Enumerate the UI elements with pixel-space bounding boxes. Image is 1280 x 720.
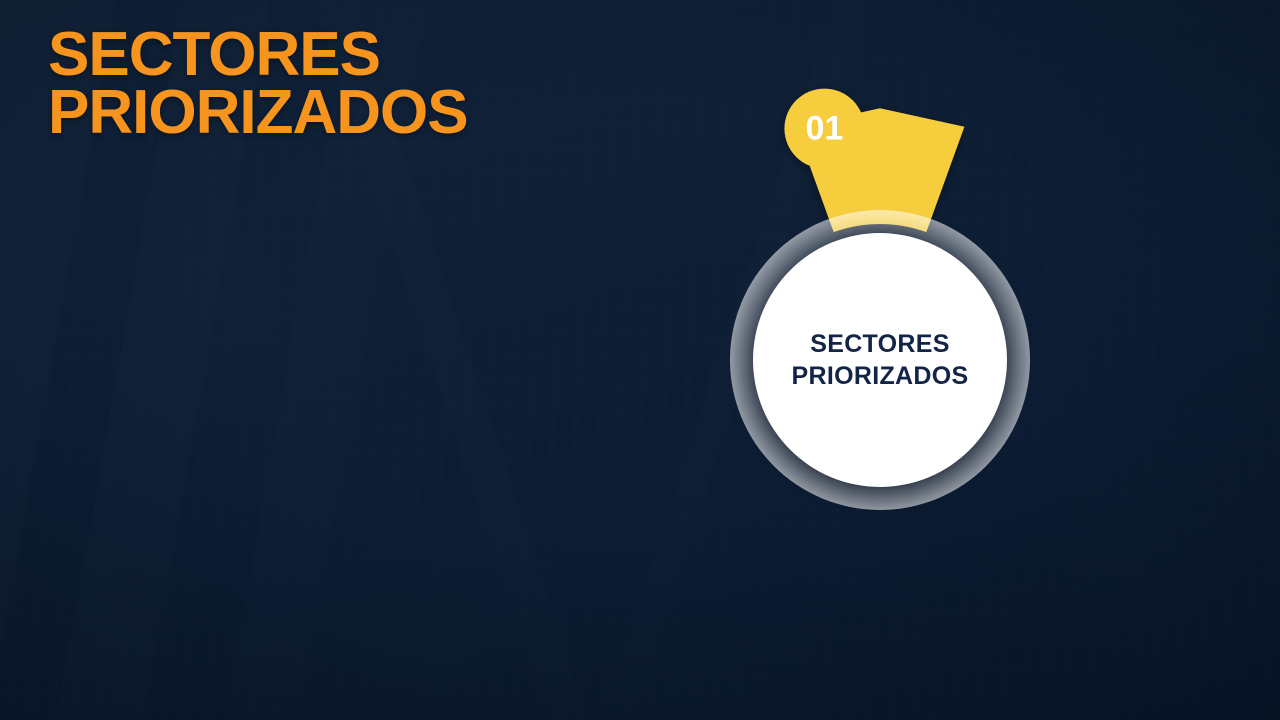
slide-root: SECTORES PRIORIZADOS 01 SECTORES PRIORIZ… — [0, 0, 1280, 720]
hub-title: SECTORES PRIORIZADOS — [792, 328, 969, 392]
wheel-center-hub: SECTORES PRIORIZADOS — [753, 233, 1007, 487]
page-title: SECTORES PRIORIZADOS — [48, 26, 468, 143]
sectors-wheel-diagram: 01 SECTORES PRIORIZADOS — [552, 32, 1208, 688]
